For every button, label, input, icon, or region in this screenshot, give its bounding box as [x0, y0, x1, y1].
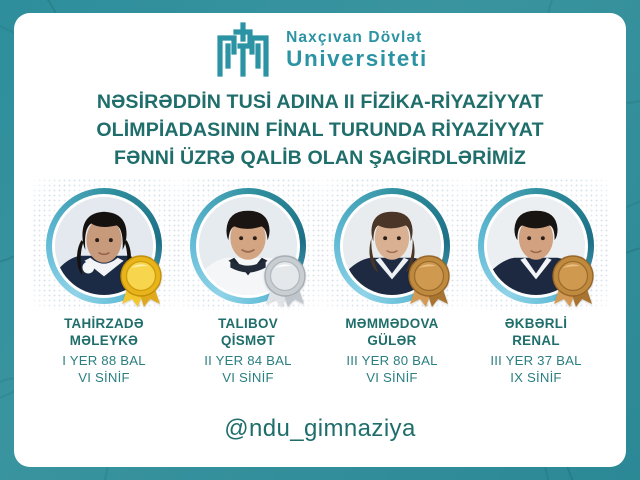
- brand-name-line2: Universiteti: [286, 48, 428, 71]
- winner-name-line1: MƏMMƏDOVA: [345, 316, 438, 332]
- winner-rank: III YER 80 BAL: [346, 353, 437, 370]
- winner-name-line1: TALIBOV: [218, 316, 278, 332]
- winner-name-line2: RENAL: [505, 333, 567, 349]
- title-line-1: NƏSİRƏDDİN TUSİ ADINA II FİZİKA-RİYAZİYY…: [36, 89, 604, 117]
- winner-result: II YER 84 BAL VI SİNİF: [204, 353, 291, 386]
- avatar: [334, 188, 450, 304]
- page-title: NƏSİRƏDDİN TUSİ ADINA II FİZİKA-RİYAZİYY…: [36, 89, 604, 172]
- winner-result: III YER 80 BAL VI SİNİF: [346, 353, 437, 386]
- avatar: [46, 188, 162, 304]
- brand-wordmark: Naxçıvan Dövlət Universiteti: [286, 30, 428, 70]
- winner-grade: VI SİNİF: [346, 370, 437, 387]
- winner-card: MƏMMƏDOVA GÜLƏR III YER 80 BAL VI SİNİF: [322, 188, 462, 386]
- winner-name-line1: ƏKBƏRLİ: [505, 316, 567, 332]
- winner-result: III YER 37 BAL IX SİNİF: [490, 353, 581, 386]
- title-line-2: OLİMPİADASININ FİNAL TURUNDA RİYAZİYYAT: [36, 117, 604, 145]
- winner-name: TAHİRZADƏ MƏLEYKƏ: [64, 316, 144, 349]
- poster-root: Naxçıvan Dövlət Universiteti NƏSİRƏDDİN …: [0, 0, 640, 480]
- winner-grade: IX SİNİF: [490, 370, 581, 387]
- winner-name-line2: MƏLEYKƏ: [64, 333, 144, 349]
- content-card: Naxçıvan Dövlət Universiteti NƏSİRƏDDİN …: [14, 13, 626, 467]
- winner-rank: II YER 84 BAL: [204, 353, 291, 370]
- social-handle: @ndu_gimnaziya: [14, 415, 626, 443]
- avatar: [478, 188, 594, 304]
- winner-name: MƏMMƏDOVA GÜLƏR: [345, 316, 438, 349]
- winner-grade: VI SİNİF: [204, 370, 291, 387]
- brand-name-line1: Naxçıvan Dövlət: [286, 30, 428, 46]
- ndu-logo-icon: [212, 22, 274, 78]
- winners-row: TAHİRZADƏ MƏLEYKƏ I YER 88 BAL VI SİNİF: [34, 188, 606, 386]
- winner-name-line2: GÜLƏR: [345, 333, 438, 349]
- title-line-3: FƏNNİ ÜZRƏ QALİB OLAN ŞAGİRDLƏRİMİZ: [36, 145, 604, 173]
- bronze-medal-icon: [546, 250, 600, 308]
- winner-grade: VI SİNİF: [62, 370, 146, 387]
- gold-medal-icon: [114, 250, 168, 308]
- winner-rank: III YER 37 BAL: [490, 353, 581, 370]
- winner-card: ƏKBƏRLİ RENAL III YER 37 BAL IX SİNİF: [466, 188, 606, 386]
- winner-card: TALIBOV QİSMƏT II YER 84 BAL VI SİNİF: [178, 188, 318, 386]
- winner-name-line1: TAHİRZADƏ: [64, 316, 144, 332]
- avatar: [190, 188, 306, 304]
- bronze-medal-icon: [402, 250, 456, 308]
- brand-header: Naxçıvan Dövlət Universiteti: [14, 13, 626, 79]
- winner-name: ƏKBƏRLİ RENAL: [505, 316, 567, 349]
- winner-result: I YER 88 BAL VI SİNİF: [62, 353, 146, 386]
- winner-rank: I YER 88 BAL: [62, 353, 146, 370]
- winner-name: TALIBOV QİSMƏT: [218, 316, 278, 349]
- silver-medal-icon: [258, 250, 312, 308]
- winner-name-line2: QİSMƏT: [218, 333, 278, 349]
- winner-card: TAHİRZADƏ MƏLEYKƏ I YER 88 BAL VI SİNİF: [34, 188, 174, 386]
